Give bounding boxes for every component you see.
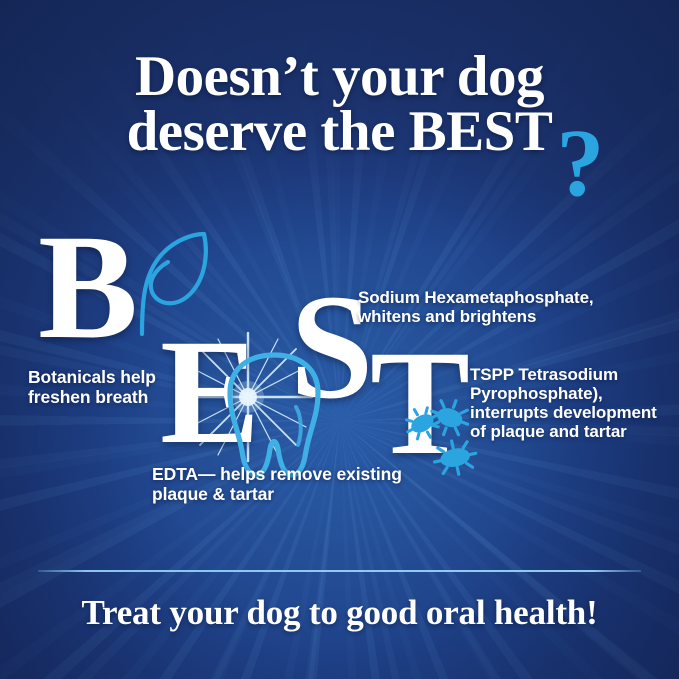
tagline: Treat your dog to good oral health! xyxy=(0,593,679,633)
caption-edta: EDTA— helps remove existing plaque & tar… xyxy=(152,465,422,504)
headline-line-2-wrap: deserve the BEST ? xyxy=(127,105,553,160)
caption-botanicals: Botanicals help freshen breath xyxy=(28,368,178,407)
caption-sodium: Sodium Hexametaphosphate, whitens and br… xyxy=(358,288,658,326)
best-acronym-stage: B E S T xyxy=(0,215,679,535)
headline-line-2: deserve the BEST xyxy=(127,100,553,163)
poster-canvas: Doesn’t your dog deserve the BEST ? xyxy=(0,0,679,679)
big-letter-b: B xyxy=(38,227,138,347)
caption-tspp: TSPP Tetrasodium Pyrophosphate), interru… xyxy=(470,365,670,441)
headline-line-1: Doesn’t your dog xyxy=(26,50,653,105)
divider-line xyxy=(38,570,641,572)
headline: Doesn’t your dog deserve the BEST ? xyxy=(0,50,679,159)
leaf-icon xyxy=(128,230,214,338)
